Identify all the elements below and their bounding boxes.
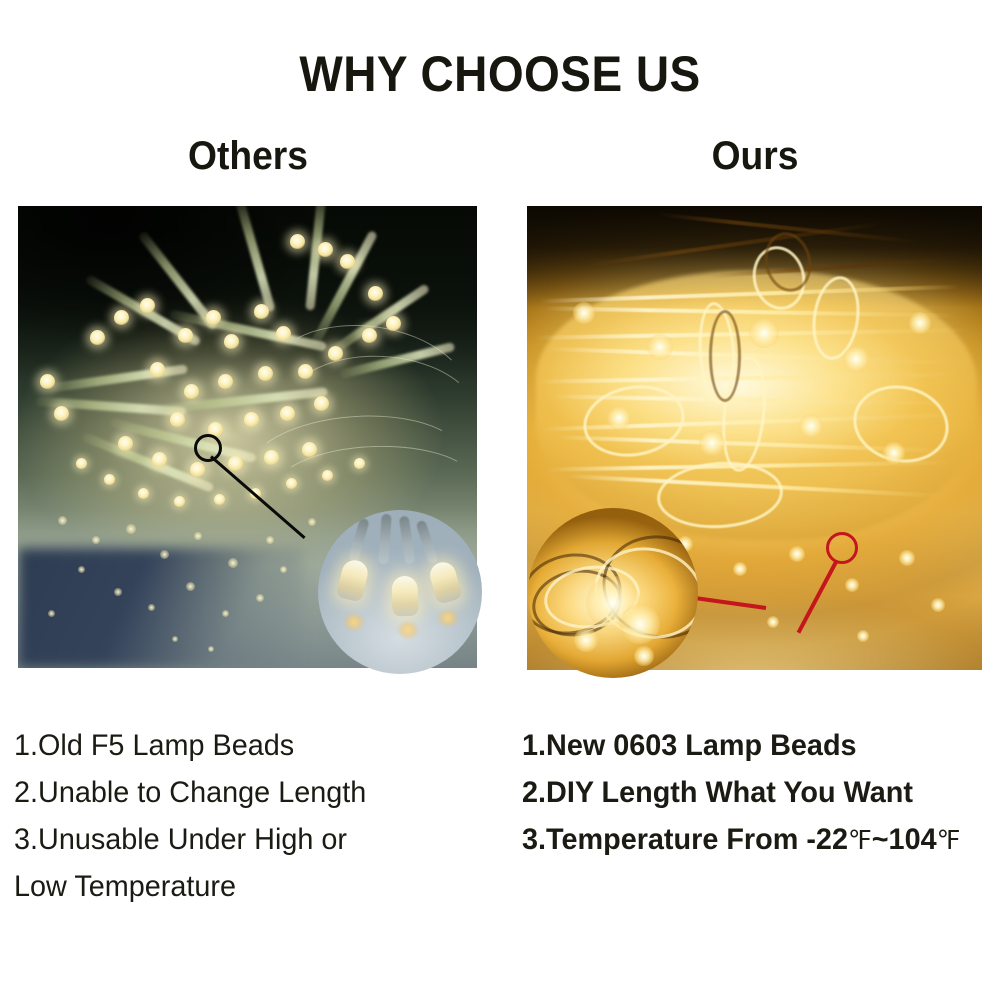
micro-led-glow (574, 628, 598, 652)
light-reflection (148, 604, 155, 611)
ours-callout-ring (826, 532, 858, 564)
led-bulb (280, 406, 295, 421)
led-bulb (104, 474, 115, 485)
led-bulb (368, 286, 383, 301)
led-bulb (276, 326, 291, 341)
light-reflection (256, 594, 264, 602)
led-bulb (40, 374, 55, 389)
light-reflection (114, 588, 122, 596)
bead-reflection (344, 614, 364, 630)
led-glow (899, 550, 915, 566)
list-item-temperature: 3.Temperature From -22℉~104℉ (522, 816, 960, 864)
led-bulb (264, 450, 279, 465)
light-reflection (266, 536, 274, 544)
light-reflection (194, 532, 202, 540)
bead-stem (415, 520, 438, 565)
led-bulb (302, 442, 317, 457)
light-reflection (280, 566, 287, 573)
led-bulb (206, 310, 221, 325)
ours-zoom-inset (528, 508, 698, 678)
led-bulb (228, 456, 243, 471)
light-reflection (186, 582, 195, 591)
led-bulb (322, 470, 333, 481)
led-glow (843, 346, 869, 372)
others-callout-ring (194, 434, 222, 462)
temperature-prefix: 3.Temperature From -22 (522, 823, 848, 856)
led-bulb (178, 328, 193, 343)
led-glow (931, 598, 945, 612)
led-bulb (290, 234, 305, 249)
light-reflection (126, 524, 136, 534)
led-bulb (362, 328, 377, 343)
led-glow (845, 578, 859, 592)
led-bulb (354, 458, 365, 469)
led-glow (647, 334, 673, 360)
list-item: 2.DIY Length What You Want (522, 769, 960, 816)
led-glow (909, 312, 931, 334)
ours-feature-list: 1.New 0603 Lamp Beads 2.DIY Length What … (522, 722, 979, 864)
led-bulb (138, 488, 149, 499)
f5-lamp-bead (336, 557, 371, 602)
led-bulb (298, 364, 313, 379)
light-reflection (78, 566, 85, 573)
led-bulb (118, 436, 133, 451)
others-feature-list: 1.Old F5 Lamp Beads 2.Unable to Change L… (14, 722, 381, 910)
led-glow (799, 414, 823, 438)
led-bulb (328, 346, 343, 361)
led-bulb (218, 374, 233, 389)
led-bulb (190, 462, 205, 477)
micro-led-glow (634, 646, 654, 666)
led-bulb (140, 298, 155, 313)
list-item: 1.New 0603 Lamp Beads (522, 722, 960, 769)
column-heading-ours: Ours (625, 132, 885, 180)
bead-reflection (438, 610, 458, 626)
fahrenheit-symbol: ℉ (848, 826, 872, 855)
light-reflection (92, 536, 100, 544)
led-bulb (184, 384, 199, 399)
led-glow (857, 630, 869, 642)
led-bulb (254, 304, 269, 319)
photo-corner-shadow (18, 548, 303, 668)
light-reflection (58, 516, 67, 525)
led-bulb (224, 334, 239, 349)
led-bulb (386, 316, 401, 331)
led-bulb (150, 362, 165, 377)
light-reflection (160, 550, 169, 559)
light-reflection (222, 610, 229, 617)
page-title: WHY CHOOSE US (40, 46, 960, 102)
led-bulb (114, 310, 129, 325)
light-reflection (228, 558, 238, 568)
led-bulb (214, 494, 225, 505)
f5-lamp-bead (391, 576, 418, 617)
led-glow (749, 318, 779, 348)
list-item: 1.Old F5 Lamp Beads (14, 722, 366, 769)
micro-led-glow (620, 604, 660, 644)
led-glow (789, 546, 805, 562)
column-heading-others: Others (118, 132, 378, 180)
led-bulb (340, 254, 355, 269)
led-glow (573, 302, 595, 324)
temperature-middle: ~104 (872, 823, 937, 856)
others-zoom-inset (318, 510, 482, 674)
fahrenheit-symbol: ℉ (937, 826, 961, 855)
led-glow (733, 562, 747, 576)
led-glow (699, 430, 725, 456)
list-item: Low Temperature (14, 863, 366, 910)
f5-lamp-bead (427, 559, 463, 605)
light-reflection (172, 636, 178, 642)
led-bulb (318, 242, 333, 257)
led-bulb (152, 452, 167, 467)
led-bulb (258, 366, 273, 381)
led-bulb (314, 396, 329, 411)
bead-reflection (398, 622, 418, 638)
led-bulb (286, 478, 297, 489)
light-reflection (48, 610, 55, 617)
list-item: 2.Unable to Change Length (14, 769, 366, 816)
led-bulb (54, 406, 69, 421)
led-bulb (90, 330, 105, 345)
led-glow (607, 406, 631, 430)
light-reflection (308, 518, 316, 526)
led-bulb (170, 412, 185, 427)
bead-stem (399, 516, 416, 565)
led-glow (883, 442, 905, 464)
led-glow (767, 616, 779, 628)
led-bulb (244, 412, 259, 427)
list-item: 3.Unusable Under High or (14, 816, 366, 863)
led-bulb (174, 496, 185, 507)
wire-loop-dark (709, 310, 741, 402)
light-reflection (208, 646, 214, 652)
bead-stem (378, 514, 391, 565)
led-bulb (76, 458, 87, 469)
